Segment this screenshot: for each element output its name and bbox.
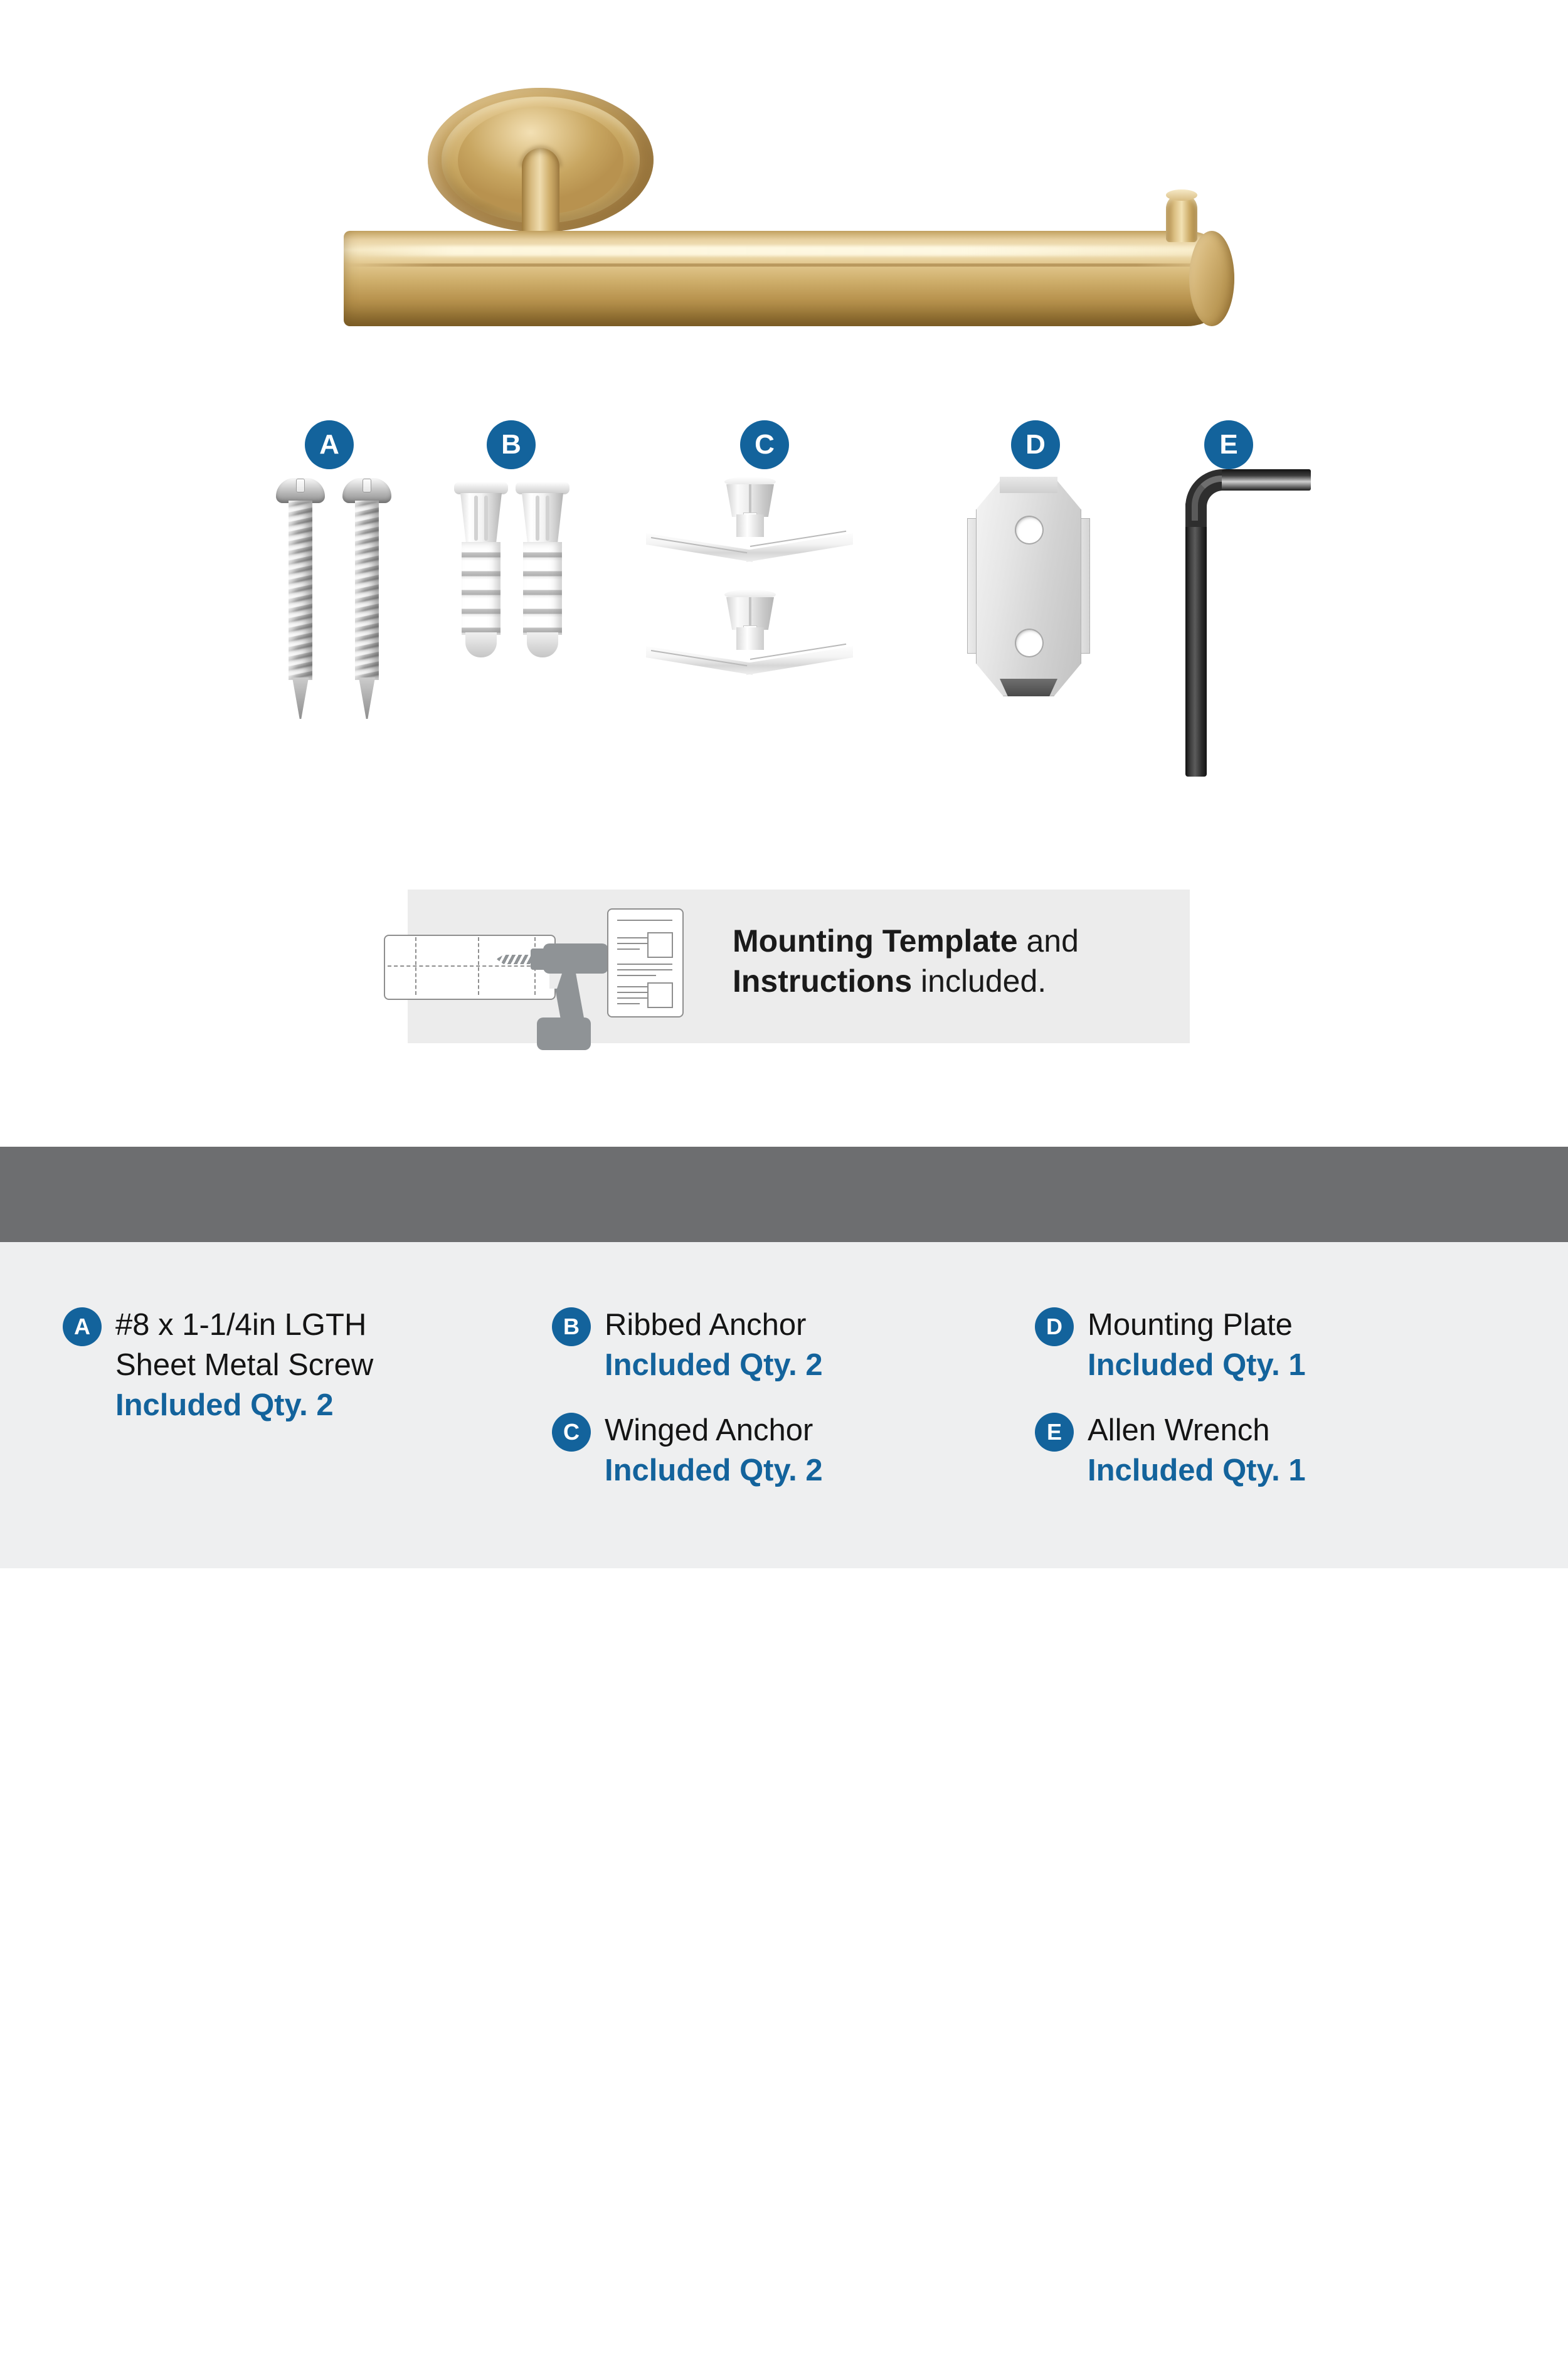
legend-badge-d: D [1035, 1307, 1074, 1346]
mounting-plate [976, 477, 1120, 696]
instruction-sheet-icon [607, 908, 684, 1017]
anchor-nose [527, 632, 558, 657]
screw-shaft [355, 501, 379, 680]
allen-wrench-short-arm [1222, 469, 1311, 491]
mounting-plate-hole [1015, 516, 1044, 545]
anchor-nose [465, 632, 497, 657]
legend-name-e: Allen Wrench [1088, 1410, 1489, 1450]
template-text-bold-1: Mounting Template [733, 923, 1018, 959]
winged-anchor-stem [736, 514, 764, 537]
mounting-plate-bottom-bevel [1000, 679, 1057, 696]
winged-anchor-body-seam [749, 484, 751, 517]
legend-badge-e: E [1035, 1413, 1074, 1452]
legend-qty-d: Included Qty. 1 [1088, 1345, 1489, 1385]
allen-wrench-long-arm [1185, 502, 1207, 777]
template-crosshair-vertical [478, 937, 479, 995]
template-crosshair-vertical [415, 937, 416, 995]
holder-bar [344, 231, 1234, 326]
mounting-template-text: Mounting Template and Instructions inclu… [733, 921, 1184, 1001]
holder-bar-end-cap [1189, 231, 1234, 326]
allen-wrench [1185, 469, 1311, 777]
anchor-slot [536, 496, 539, 541]
drill-icon [519, 943, 608, 1050]
mounting-plate-hole [1015, 629, 1044, 657]
legend-name-a-line2: Sheet Metal Screw [115, 1345, 517, 1385]
legend-qty-b: Included Qty. 2 [605, 1345, 1006, 1385]
legend-badge-b: B [552, 1307, 591, 1346]
callout-badge-d: D [1011, 420, 1060, 469]
drill-battery-icon [537, 1017, 591, 1050]
legend-name-c: Winged Anchor [605, 1410, 1006, 1450]
anchor-slot [546, 496, 549, 541]
legend-qty-a: Included Qty. 2 [115, 1385, 517, 1425]
anchor-flange [454, 482, 508, 494]
legend-badge-c: C [552, 1413, 591, 1452]
template-text-bold-2: Instructions [733, 964, 912, 999]
legend-name-b: Ribbed Anchor [605, 1305, 1006, 1345]
holder-bar-highlight [349, 246, 1224, 256]
product-hardware-infographic: A B C D E [0, 0, 1568, 1568]
legend-badge-a: A [63, 1307, 102, 1346]
holder-bar-end-pin-top [1166, 189, 1197, 201]
mounting-plate-body [976, 477, 1081, 696]
mounting-plate-top-bevel [1000, 477, 1057, 493]
rosette-neck [522, 148, 559, 236]
anchor-cone [522, 493, 563, 545]
winged-anchor-body-seam [749, 597, 751, 630]
winged-anchor [646, 590, 853, 677]
section-header-band: Installation Hardware Included [0, 1147, 1568, 1242]
template-text-line-2: Instructions included. [733, 961, 1184, 1001]
anchor-flange [516, 482, 569, 494]
anchor-cone [460, 493, 502, 545]
legend-name-a-line1: #8 x 1-1/4in LGTH [115, 1305, 517, 1345]
template-text-rest-2: included. [912, 964, 1046, 999]
wall-rosette [428, 88, 654, 232]
legend-qty-e: Included Qty. 1 [1088, 1450, 1489, 1490]
legend-name-d: Mounting Plate [1088, 1305, 1489, 1345]
page-title: Installation Hardware Included [70, 2307, 1450, 2375]
hardware-parts-row: A B C D E [0, 389, 1568, 866]
screw-tip [292, 677, 309, 719]
anchor-slot [484, 496, 488, 541]
template-text-line-1: Mounting Template and [733, 921, 1184, 961]
anchor-ribs [462, 542, 501, 635]
holder-bar-groove [346, 263, 1224, 267]
hardware-legend-panel: A #8 x 1-1/4in LGTH Sheet Metal Screw In… [0, 1242, 1568, 1568]
screw-shaft [289, 501, 312, 680]
screw-slot [363, 479, 371, 492]
callout-badge-c: C [740, 420, 789, 469]
screw-slot [296, 479, 305, 492]
callout-badge-b: B [487, 420, 536, 469]
screw-tip [359, 677, 375, 719]
winged-anchor [646, 477, 853, 565]
winged-anchor-stem [736, 627, 764, 650]
anchor-slot [474, 496, 478, 541]
product-illustration [0, 0, 1568, 389]
anchor-ribs [523, 542, 562, 635]
drill-body-icon [543, 943, 608, 974]
legend-qty-c: Included Qty. 2 [605, 1450, 1006, 1490]
template-text-rest-1: and [1018, 923, 1079, 959]
callout-badge-a: A [305, 420, 354, 469]
callout-badge-e: E [1204, 420, 1253, 469]
